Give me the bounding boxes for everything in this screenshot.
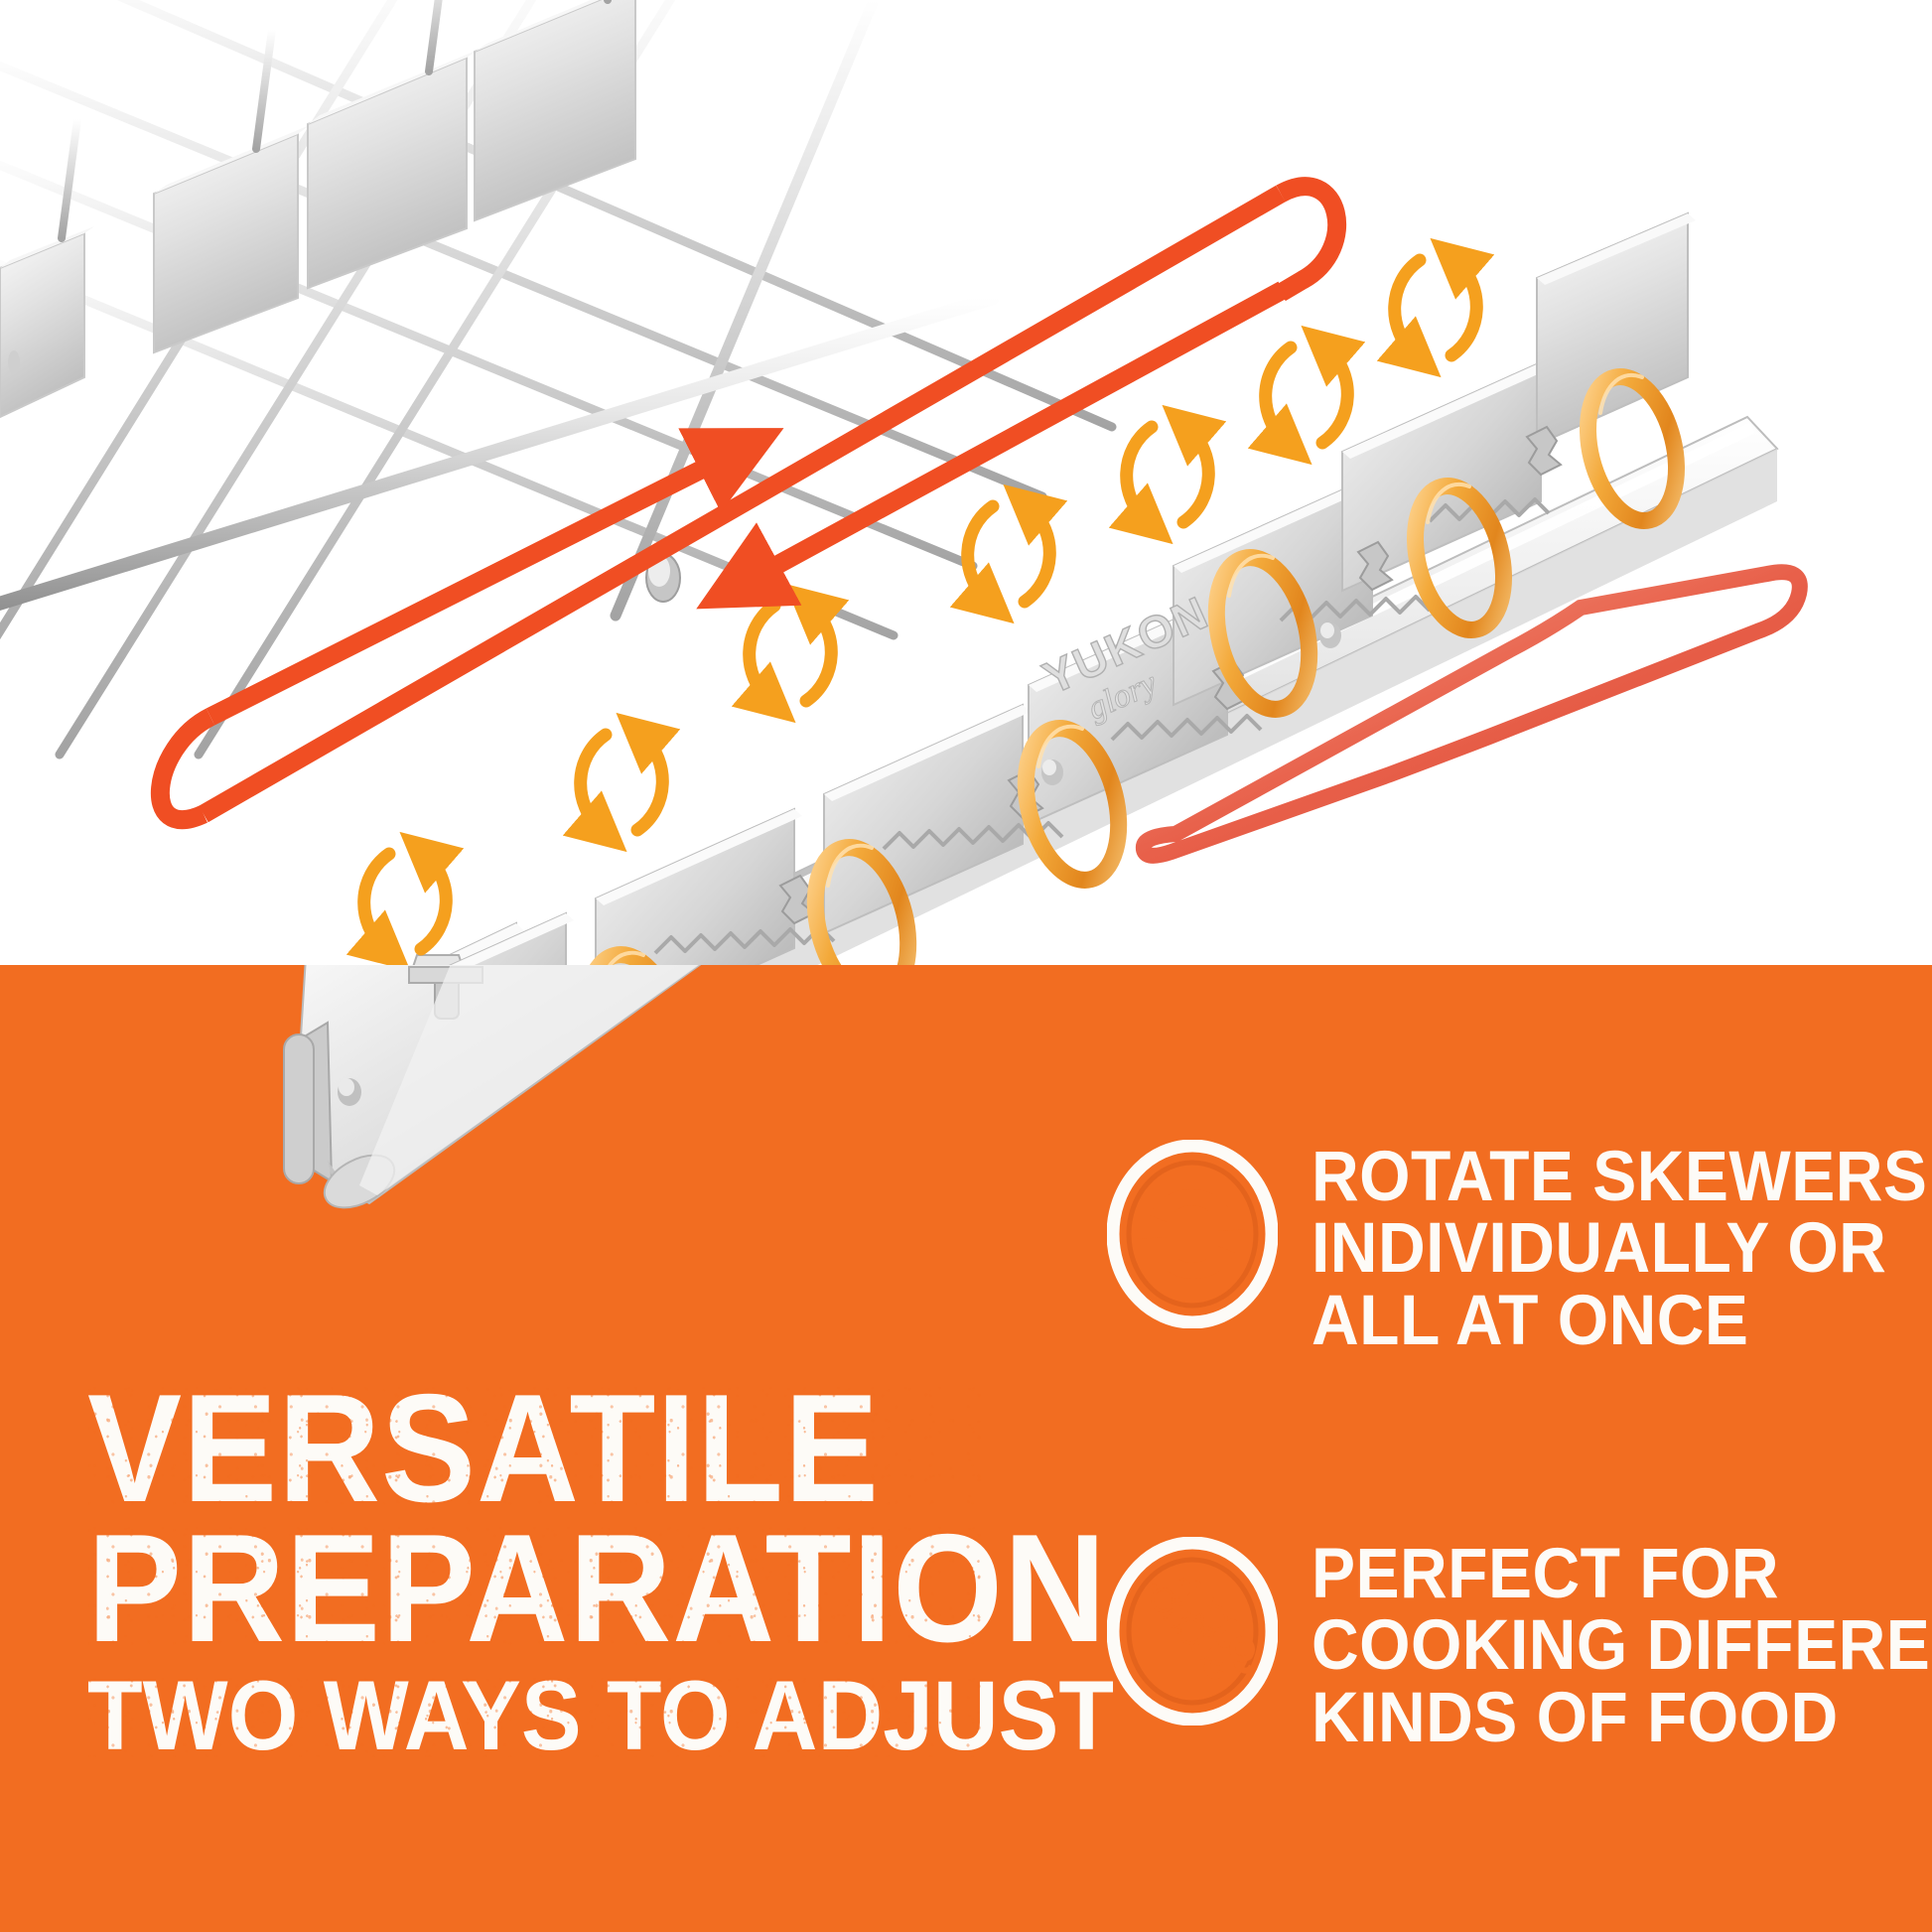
headline-line-2: PREPARATION [87, 1522, 983, 1654]
rotate-arrow-1 [364, 854, 447, 949]
feature-food-line-2: COOKING DIFFERENT [1311, 1610, 1932, 1682]
feature-rotate-text: ROTATE SKEWERS INDIVIDUALLY OR ALL AT ON… [1311, 1140, 1927, 1357]
feature-food-line-3: KINDS OF FOOD [1311, 1683, 1932, 1754]
headline-line-1: VERSATILE [87, 1382, 983, 1514]
headline-line-3: TWO WAYS TO ADJUST [87, 1673, 983, 1757]
headline-block: VERSATILE PREPARATION TWO WAYS TO ADJUST [87, 1382, 1060, 1757]
rotate-sync-icon [1107, 1140, 1278, 1328]
product-illustration: YUKON glory [0, 0, 1932, 968]
feature-rotate-line-2: INDIVIDUALLY OR [1311, 1213, 1927, 1285]
product-photo: YUKON glory [0, 0, 1932, 968]
kebab-skewers-icon [1107, 1537, 1278, 1725]
rotate-arrow-6 [1266, 347, 1348, 443]
rotate-arrow-5 [1127, 427, 1209, 522]
feature-rotate-line-3: ALL AT ONCE [1311, 1286, 1927, 1357]
feature-rotate-line-1: ROTATE SKEWERS [1311, 1142, 1927, 1213]
feature-cook-different-foods: PERFECT FOR COOKING DIFFERENT KINDS OF F… [1107, 1537, 1932, 1754]
feature-rotate-skewers: ROTATE SKEWERS INDIVIDUALLY OR ALL AT ON… [1107, 1140, 1932, 1357]
rotate-arrow-7 [1395, 260, 1477, 355]
product-infographic: YUKON glory [0, 0, 1932, 1932]
feature-food-line-1: PERFECT FOR [1311, 1539, 1932, 1610]
rotate-arrow-2 [581, 735, 663, 830]
rotate-arrow-3 [750, 606, 832, 701]
feature-food-text: PERFECT FOR COOKING DIFFERENT KINDS OF F… [1311, 1537, 1932, 1754]
